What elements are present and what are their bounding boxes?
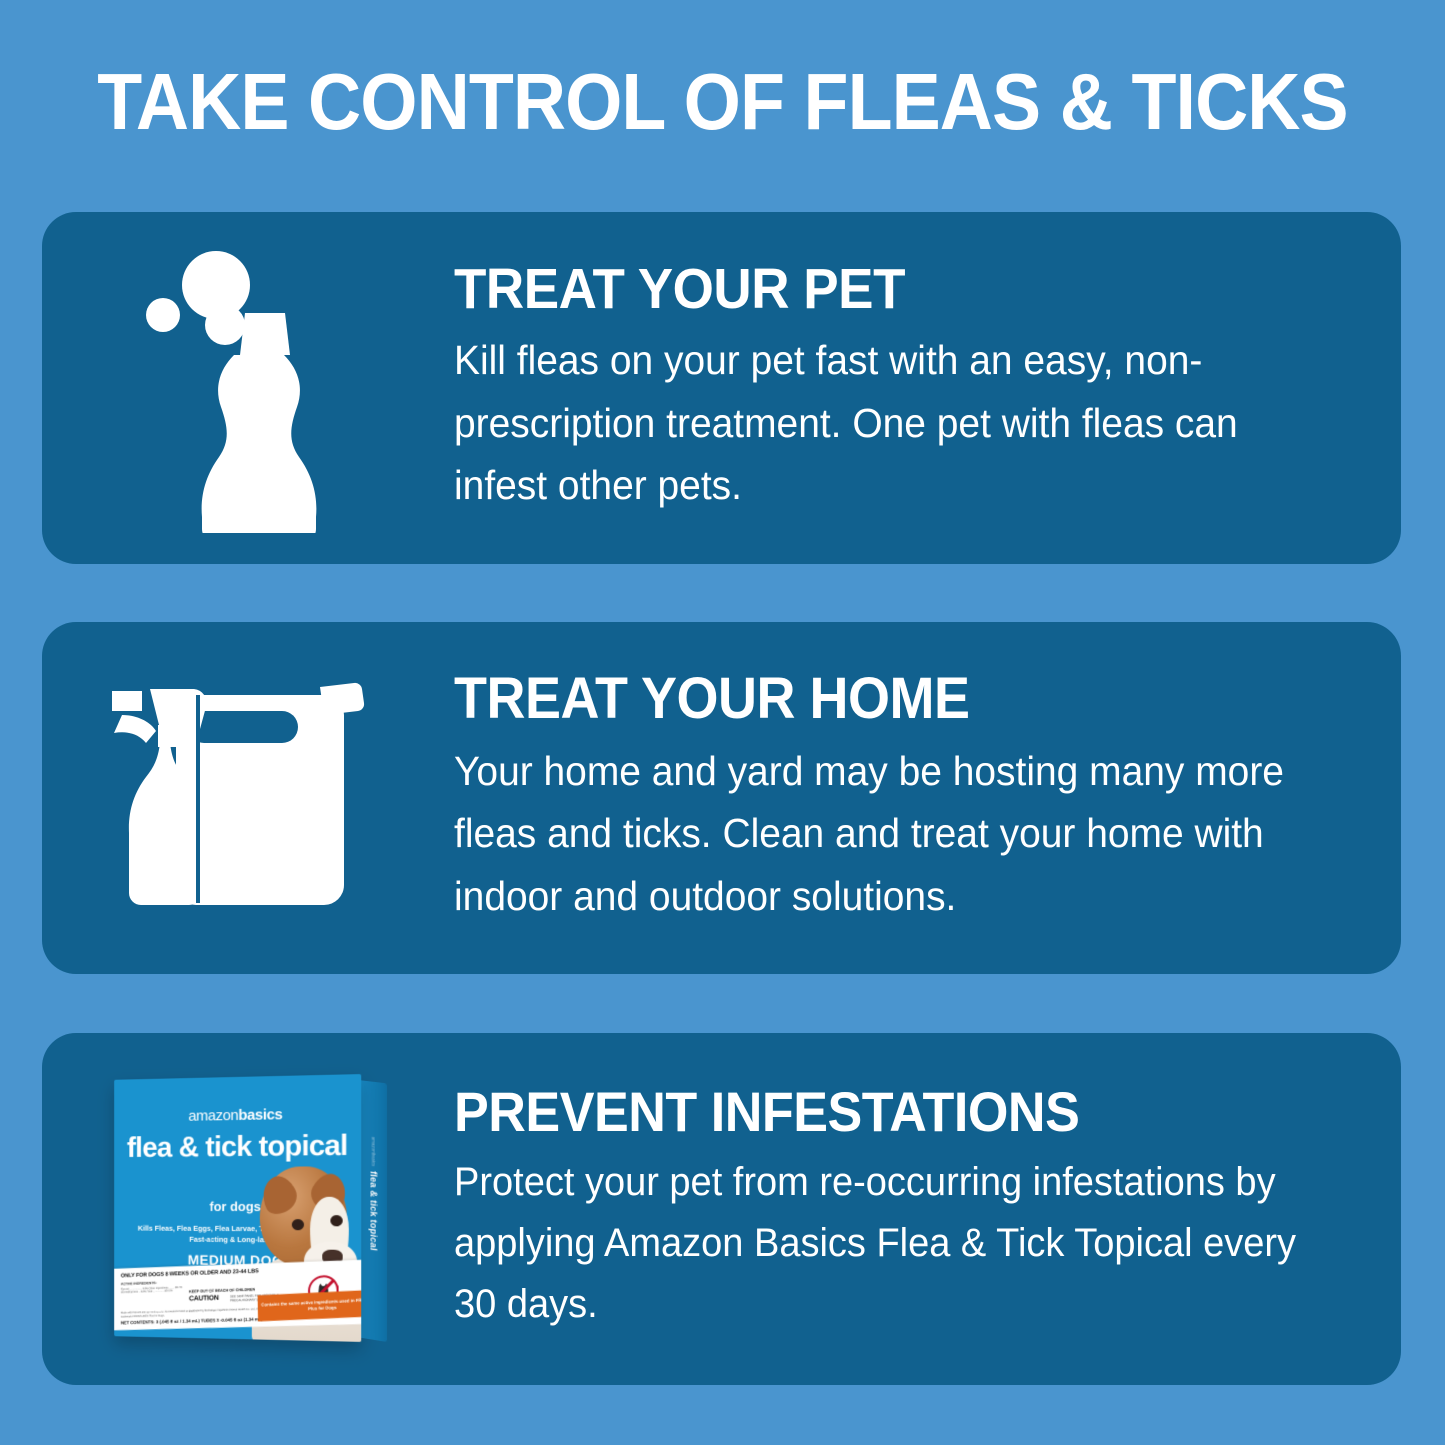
product-box-image: flea & tick topical amazonbasics amazonb… bbox=[42, 1033, 454, 1385]
dog-ear-right bbox=[306, 1169, 354, 1218]
dog-blaze bbox=[310, 1197, 349, 1287]
poster-root: TAKE CONTROL OF FLEAS & TICKS TREAT YOUR… bbox=[0, 0, 1445, 1445]
brand-basics: basics bbox=[238, 1106, 282, 1124]
feature-card-treat-your-home: TREAT YOUR HOME Your home and yard may b… bbox=[42, 622, 1401, 974]
feature-card-prevent-infestations: flea & tick topical amazonbasics amazonb… bbox=[42, 1033, 1401, 1385]
dog-chest bbox=[252, 1253, 361, 1342]
dog-eye-right bbox=[330, 1215, 342, 1226]
card-description: Protect your pet from re-occurring infes… bbox=[454, 1152, 1319, 1334]
card-title: TREAT YOUR PET bbox=[454, 260, 1301, 320]
no-cats-warning-text: DO NOT USE ON CATS bbox=[306, 1307, 341, 1315]
dog-ear-left bbox=[256, 1171, 302, 1219]
brand-amazon: amazon bbox=[188, 1107, 238, 1125]
product-name: flea & tick topical bbox=[114, 1131, 361, 1163]
product-claims: Kills Fleas, Flea Eggs, Flea Larvae, Tic… bbox=[114, 1223, 361, 1247]
card-body: PREVENT INFESTATIONS Protect your pet fr… bbox=[454, 1033, 1401, 1385]
label-caution: CAUTION bbox=[189, 1295, 219, 1303]
no-cats-line-1: DO NOT USE bbox=[314, 1307, 332, 1312]
label-active-ingredients: ACTIVE INGREDIENTS: bbox=[121, 1281, 157, 1286]
card-description: Your home and yard may be hosting many m… bbox=[454, 740, 1319, 927]
dog-photo bbox=[246, 1148, 361, 1342]
dog-eye-left bbox=[292, 1219, 304, 1230]
card-body: TREAT YOUR PET Kill fleas on your pet fa… bbox=[454, 212, 1401, 564]
no-cats-warning-icon: DO NOT USE ON CATS bbox=[306, 1275, 341, 1317]
dog-shoulder bbox=[322, 1262, 361, 1342]
card-title: PREVENT INFESTATIONS bbox=[454, 1083, 1301, 1142]
spray-bottle-and-jug-icon bbox=[42, 622, 454, 974]
label-keep-out-of-reach: KEEP OUT OF REACH OF CHILDREN bbox=[189, 1288, 255, 1294]
dog-head bbox=[260, 1166, 347, 1266]
label-trademark-note: Made with Fipronil and (S)-methoprene. N… bbox=[121, 1307, 297, 1319]
frontline-comparison-banner: Contains the same active ingredients use… bbox=[258, 1289, 362, 1321]
dog-nose bbox=[322, 1250, 342, 1265]
card-title: TREAT YOUR HOME bbox=[454, 669, 1301, 730]
dog-muzzle bbox=[304, 1241, 357, 1288]
product-label-strip: ONLY FOR DOGS 8 WEEKS OR OLDER AND 23-44… bbox=[114, 1259, 361, 1330]
product-for-label: for dogs bbox=[114, 1199, 361, 1214]
claims-line-2: Fast-acting & Long-lasting bbox=[114, 1234, 361, 1247]
page-title: TAKE CONTROL OF FLEAS & TICKS bbox=[58, 62, 1387, 142]
claims-line-1: Kills Fleas, Flea Eggs, Flea Larvae, Tic… bbox=[114, 1223, 361, 1235]
side-panel-brand: amazonbasics bbox=[371, 1136, 376, 1166]
soap-bottle-with-bubbles-icon bbox=[42, 212, 454, 564]
card-body: TREAT YOUR HOME Your home and yard may b… bbox=[454, 622, 1401, 974]
frontline-comparison-text: Contains the same active ingredients use… bbox=[261, 1297, 361, 1314]
product-box-side-panel: flea & tick topical amazonbasics bbox=[360, 1080, 387, 1342]
label-header: ONLY FOR DOGS 8 WEEKS OR OLDER AND 23-44… bbox=[121, 1268, 259, 1279]
prohibition-slash-icon bbox=[312, 1279, 335, 1303]
label-caution-note: SEE SIDE PANEL FOR ADDITIONAL PRECAUTION… bbox=[230, 1293, 300, 1303]
amazon-basics-logo: amazonbasics bbox=[114, 1105, 361, 1126]
product-box-front-panel: amazonbasics flea & tick topical for dog… bbox=[114, 1074, 361, 1342]
no-cats-line-2: ON CATS bbox=[317, 1310, 330, 1314]
label-ingredient-list: Fipronil .................. 9.8% Other I… bbox=[121, 1286, 186, 1295]
feature-card-treat-your-pet: TREAT YOUR PET Kill fleas on your pet fa… bbox=[42, 212, 1401, 564]
cat-silhouette-icon bbox=[317, 1282, 330, 1299]
side-panel-product-name: flea & tick topical bbox=[368, 1170, 378, 1251]
card-description: Kill fleas on your pet fast with an easy… bbox=[454, 329, 1319, 516]
